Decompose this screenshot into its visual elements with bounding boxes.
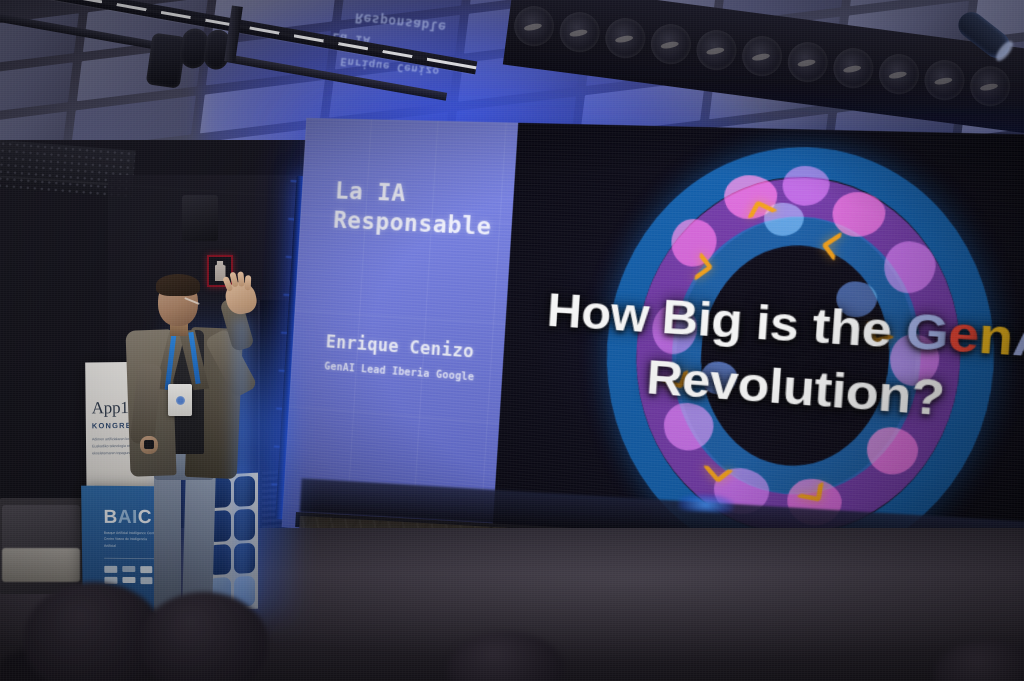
blue-light-reflection xyxy=(678,493,735,514)
brand-letter-n: n xyxy=(977,306,1015,366)
presentation-clicker xyxy=(144,440,154,449)
downlight-icon xyxy=(922,58,967,103)
sofa-backrest xyxy=(2,505,80,551)
downlight-icon xyxy=(648,22,693,67)
slide-spacer xyxy=(327,235,511,343)
downlight-icon xyxy=(557,10,602,55)
downlight-icon xyxy=(512,4,557,49)
downlight-icon xyxy=(876,52,921,97)
slide-title: La IA Responsable xyxy=(332,177,514,243)
molecule-orange-helix xyxy=(796,477,824,502)
badge-seal-icon xyxy=(176,396,185,405)
sponsor-logo-pre: B xyxy=(103,507,118,528)
presenter-rim-light xyxy=(226,318,248,618)
downlight-icon xyxy=(785,40,830,85)
slide-speaker-name: Enrique Cenizo xyxy=(325,332,504,365)
downlight-icon xyxy=(603,16,648,61)
downlight-icon xyxy=(694,28,739,73)
downlight-icon xyxy=(831,46,876,91)
audience-head xyxy=(140,592,268,681)
finger xyxy=(237,271,245,287)
attendee-badge xyxy=(168,384,192,416)
presenter-hair xyxy=(156,274,200,296)
brand-letter-e: e xyxy=(946,304,981,364)
downlight-icon xyxy=(968,64,1013,109)
presenter xyxy=(118,272,270,612)
presenter-leg-left xyxy=(154,468,181,614)
slide-speaker-role: GenAI Lead Iberia Google xyxy=(324,361,502,385)
brand-letter-g: G xyxy=(904,302,950,362)
wall-speaker-box xyxy=(182,195,218,241)
sofa-seat-cushion xyxy=(2,548,80,582)
sponsor-logo xyxy=(104,566,117,573)
conference-stage-photo: Responsable La IA Enrique Cenizo xyxy=(0,0,1024,681)
stage-spotlight-rig xyxy=(146,15,265,100)
downlight-icon xyxy=(740,34,785,79)
finger xyxy=(245,275,252,290)
